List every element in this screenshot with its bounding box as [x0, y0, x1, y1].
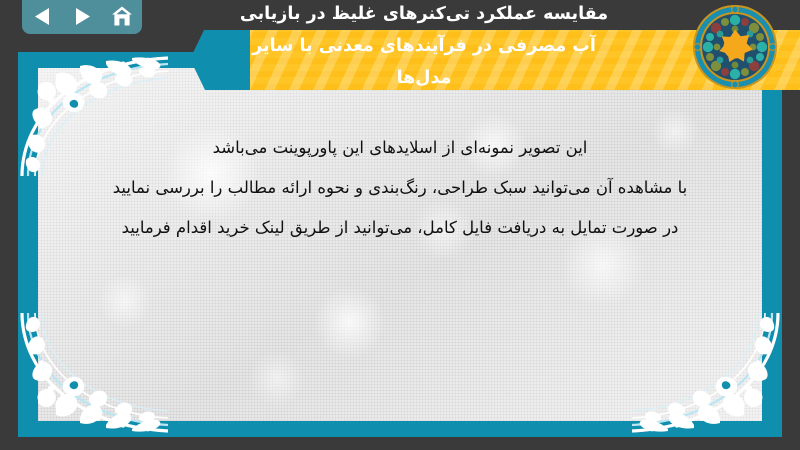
- back-button[interactable]: [27, 3, 57, 29]
- body-line-3: در صورت تمایل به دریافت فایل کامل، می‌تو…: [18, 208, 782, 248]
- triangle-right-icon: [74, 7, 91, 26]
- presentation-slide: این تصویر نمونه‌ای از اسلایدهای این پاور…: [0, 0, 800, 450]
- home-button[interactable]: [107, 3, 137, 29]
- forward-button[interactable]: [67, 3, 97, 29]
- body-line-1: این تصویر نمونه‌ای از اسلایدهای این پاور…: [18, 128, 782, 168]
- arabesque-corner-ornament-bottom-right: [632, 309, 782, 437]
- slide-navigation-bar[interactable]: [22, 0, 142, 34]
- islamic-medallion-ornament: [692, 4, 778, 90]
- triangle-left-icon: [34, 7, 51, 26]
- arabesque-corner-ornament-bottom-left: [18, 309, 168, 437]
- home-icon: [111, 6, 133, 27]
- body-line-2: با مشاهده آن می‌توانید سبک طراحی، رنگ‌بن…: [18, 168, 782, 208]
- slide-body-text: این تصویر نمونه‌ای از اسلایدهای این پاور…: [18, 128, 782, 248]
